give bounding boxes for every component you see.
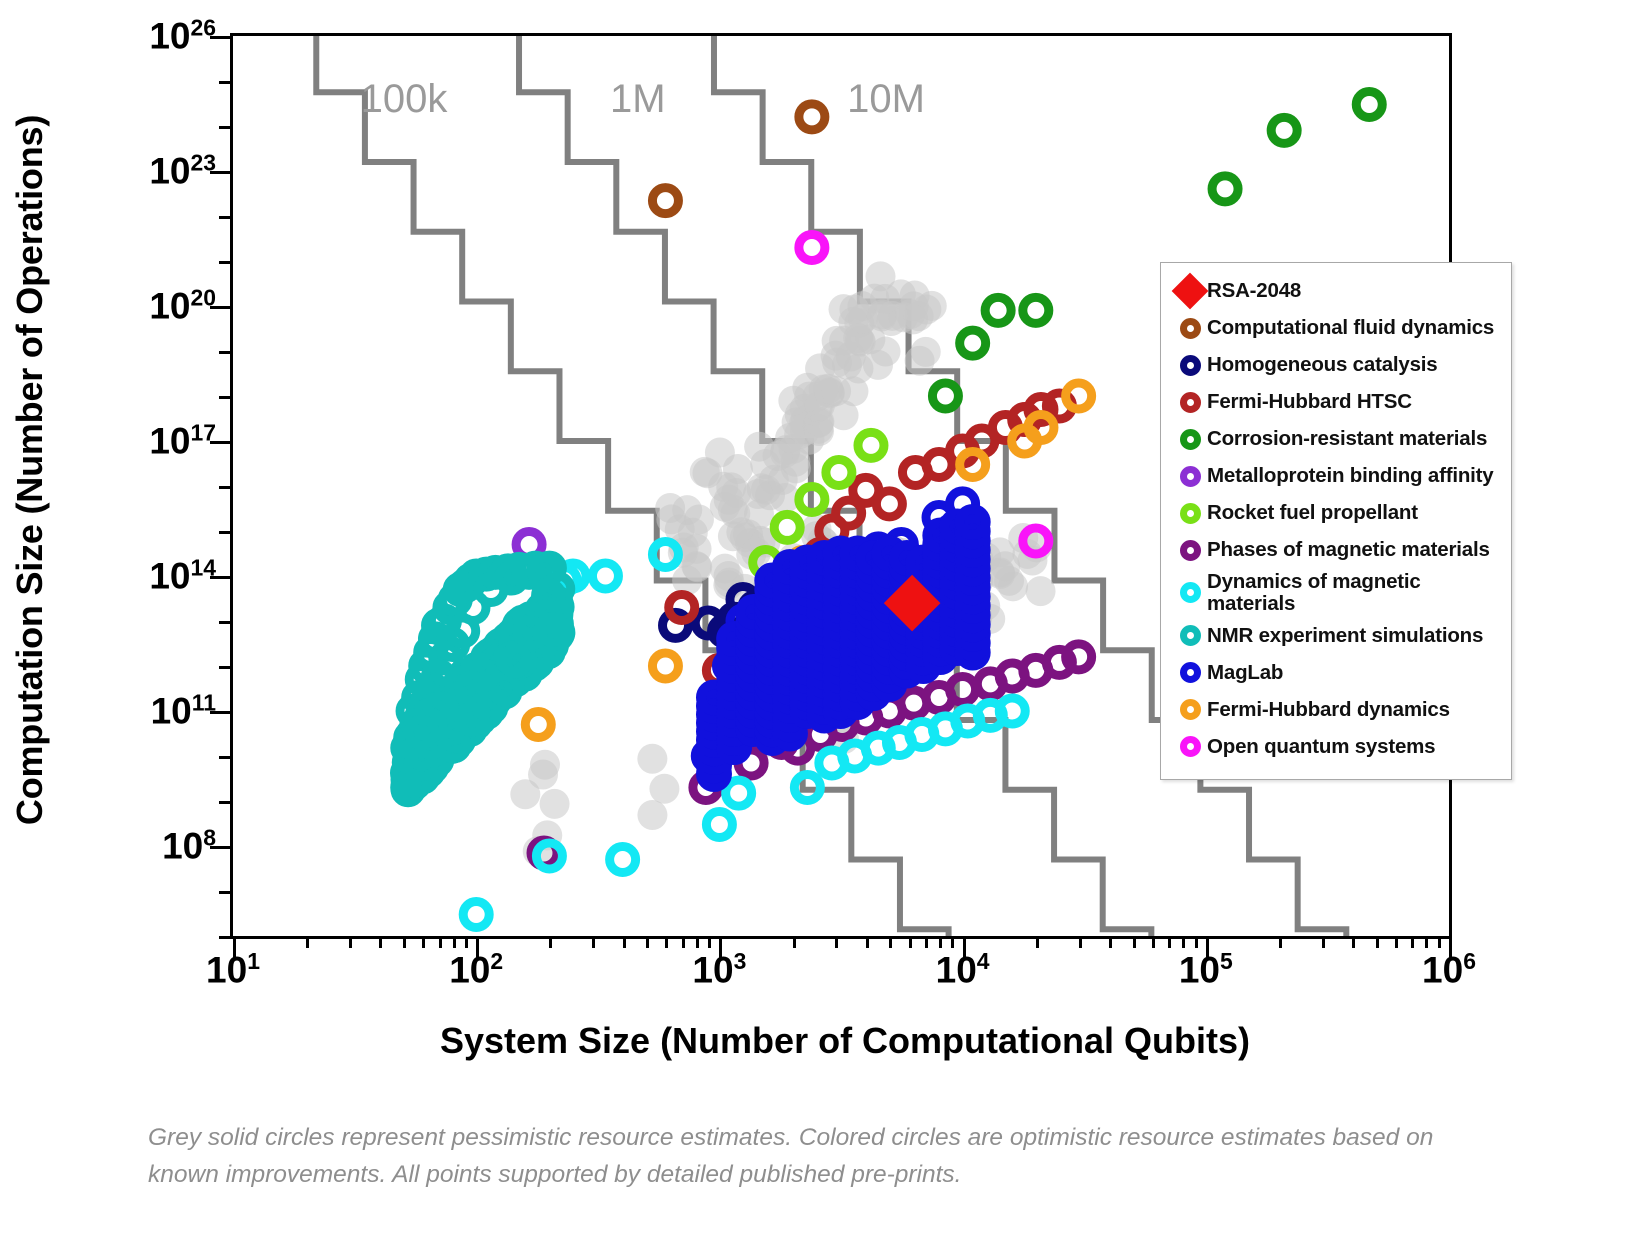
data-point-ring	[652, 188, 678, 214]
x-tick-minor	[1322, 936, 1325, 948]
x-tick-minor	[422, 936, 425, 948]
legend-item-rsa-2048[interactable]: RSA-2048	[1173, 275, 1501, 307]
x-tick-minor	[682, 936, 685, 948]
ring-marker-icon	[1173, 423, 1207, 455]
legend-item-homogeneous-catalysis[interactable]: Homogeneous catalysis	[1173, 349, 1501, 381]
grey-pessimistic-point	[743, 479, 773, 509]
x-tick-minor	[1133, 936, 1136, 948]
grey-pessimistic-point	[904, 301, 934, 331]
marker-shape	[1180, 736, 1201, 757]
marker-shape	[1180, 503, 1201, 524]
y-tick-minor	[219, 261, 230, 264]
x-tick-minor	[623, 936, 626, 948]
x-tick-minor	[453, 936, 456, 948]
legend-item-label: Metalloprotein binding affinity	[1207, 465, 1493, 487]
y-tick-minor	[219, 711, 230, 714]
data-point-ring	[1028, 414, 1054, 440]
legend: RSA-2048Computational fluid dynamicsHomo…	[1160, 262, 1512, 780]
grey-pessimistic-point	[911, 337, 941, 367]
data-point-ring	[1212, 176, 1238, 202]
grey-pessimistic-point	[540, 789, 570, 819]
x-tick-minor	[465, 936, 468, 948]
y-tick-label: 108	[162, 824, 216, 867]
data-point-ring	[799, 234, 825, 260]
y-axis-title-text: Computation Size (Number of Operations)	[9, 115, 51, 825]
x-tick-minor	[793, 936, 796, 948]
data-point-ring	[592, 563, 618, 589]
data-point-ring	[985, 297, 1011, 323]
x-tick-minor	[1352, 936, 1355, 948]
legend-item-fermi-hubbard-dynamics[interactable]: Fermi-Hubbard dynamics	[1173, 693, 1501, 725]
x-tick-mark	[719, 936, 722, 958]
grey-pessimistic-point	[637, 744, 667, 774]
y-tick-minor	[219, 576, 230, 579]
y-tick-label: 1017	[149, 419, 216, 462]
x-tick-minor	[1079, 936, 1082, 948]
legend-item-label: MagLab	[1207, 662, 1283, 684]
y-tick-minor	[219, 441, 230, 444]
x-tick-mark	[1206, 936, 1209, 958]
x-tick-minor	[696, 936, 699, 948]
data-point-ring	[726, 780, 752, 806]
y-tick-minor	[219, 36, 230, 39]
legend-item-label: Rocket fuel propellant	[1207, 502, 1418, 524]
x-tick-minor	[1376, 936, 1379, 948]
legend-item-corrosion-resistant-materials[interactable]: Corrosion-resistant materials	[1173, 423, 1501, 455]
data-point-ring	[826, 459, 852, 485]
contour-label: 1M	[610, 77, 666, 122]
marker-shape	[1180, 318, 1201, 339]
y-tick-minor	[219, 846, 230, 849]
x-tick-minor	[1168, 936, 1171, 948]
x-tick-minor	[592, 936, 595, 948]
data-point-ring	[1023, 297, 1049, 323]
data-point-ring	[652, 653, 678, 679]
y-tick-minor	[219, 801, 230, 804]
legend-item-dynamics-of-magnetic-materials[interactable]: Dynamics of magnetic materials	[1173, 571, 1501, 614]
y-tick-label: 1020	[149, 284, 216, 327]
y-tick-minor	[219, 81, 230, 84]
ring-marker-icon	[1173, 349, 1207, 381]
marker-shape	[1180, 429, 1201, 450]
contour-line	[519, 36, 1200, 936]
x-tick-minor	[1182, 936, 1185, 948]
ring-marker-icon	[1173, 386, 1207, 418]
grey-pessimistic-point	[714, 485, 744, 515]
grey-pessimistic-point	[637, 800, 667, 830]
data-point-ring	[932, 383, 958, 409]
marker-shape	[1180, 699, 1201, 720]
ring-marker-icon	[1173, 730, 1207, 762]
marker-shape	[1180, 392, 1201, 413]
marker-shape	[1180, 540, 1201, 561]
legend-item-phases-of-magnetic-materials[interactable]: Phases of magnetic materials	[1173, 534, 1501, 566]
x-tick-minor	[925, 936, 928, 948]
data-point-ring	[1066, 383, 1092, 409]
x-tick-minor	[1438, 936, 1441, 948]
legend-item-computational-fluid-dynamics[interactable]: Computational fluid dynamics	[1173, 312, 1501, 344]
legend-item-label: Computational fluid dynamics	[1207, 317, 1494, 339]
x-tick-minor	[1395, 936, 1398, 948]
contour-label: 100k	[361, 77, 448, 122]
data-point-ring	[1271, 117, 1297, 143]
data-point-ring	[1066, 644, 1092, 670]
y-tick-minor	[219, 216, 230, 219]
x-tick-minor	[439, 936, 442, 948]
legend-item-label: RSA-2048	[1207, 280, 1301, 302]
y-tick-minor	[219, 666, 230, 669]
x-tick-minor	[306, 936, 309, 948]
grey-pessimistic-point	[838, 376, 868, 406]
marker-shape	[1180, 625, 1201, 646]
y-tick-minor	[219, 891, 230, 894]
ring-marker-icon	[1173, 460, 1207, 492]
legend-item-open-quantum-systems[interactable]: Open quantum systems	[1173, 730, 1501, 762]
x-tick-minor	[379, 936, 382, 948]
legend-item-label: NMR experiment simulations	[1207, 625, 1483, 647]
x-tick-minor	[889, 936, 892, 948]
x-tick-minor	[1109, 936, 1112, 948]
x-tick-minor	[1036, 936, 1039, 948]
data-point-ring	[774, 514, 800, 540]
chart-page: Computation Size (Number of Operations) …	[0, 0, 1651, 1252]
ring-marker-icon	[1173, 497, 1207, 529]
data-point-ring	[706, 812, 732, 838]
x-tick-minor	[909, 936, 912, 948]
x-tick-minor	[1411, 936, 1414, 948]
y-tick-minor	[219, 756, 230, 759]
legend-item-label: Dynamics of magnetic materials	[1207, 571, 1501, 614]
ring-marker-icon	[1173, 619, 1207, 651]
grey-pessimistic-point	[649, 774, 679, 804]
x-tick-minor	[349, 936, 352, 948]
legend-item-label: Open quantum systems	[1207, 736, 1435, 758]
marker-shape	[1180, 582, 1201, 603]
legend-item-label: Phases of magnetic materials	[1207, 539, 1490, 561]
x-tick-minor	[951, 936, 954, 948]
x-tick-minor	[1195, 936, 1198, 948]
legend-item-label: Fermi-Hubbard HTSC	[1207, 391, 1412, 413]
y-tick-minor	[219, 171, 230, 174]
ring-marker-icon	[1173, 693, 1207, 725]
grey-pessimistic-point	[530, 750, 560, 780]
x-tick-minor	[646, 936, 649, 948]
legend-item-label: Corrosion-resistant materials	[1207, 428, 1487, 450]
data-point-ring	[652, 542, 678, 568]
diamond-marker-icon	[1173, 275, 1207, 307]
x-tick-mark	[963, 936, 966, 958]
marker-shape	[1180, 466, 1201, 487]
data-point-ring	[960, 330, 986, 356]
y-tick-minor	[219, 126, 230, 129]
marker-shape	[1172, 273, 1209, 310]
marker-shape	[1180, 355, 1201, 376]
grey-pessimistic-point	[870, 284, 900, 314]
data-point-ring	[999, 698, 1025, 724]
y-tick-label: 1023	[149, 149, 216, 192]
ring-marker-icon	[1173, 534, 1207, 566]
x-tick-minor	[866, 936, 869, 948]
x-tick-minor	[1279, 936, 1282, 948]
contour-label: 10M	[847, 77, 925, 122]
x-tick-mark	[1449, 936, 1452, 958]
legend-item-nmr-experiment-simulations[interactable]: NMR experiment simulations	[1173, 619, 1501, 651]
y-tick-label: 1026	[149, 14, 216, 57]
y-tick-label: 1011	[151, 689, 216, 732]
series-computational-fluid-dynamics	[652, 104, 824, 214]
data-point-ring	[463, 902, 489, 928]
data-point-ring	[858, 432, 884, 458]
x-tick-minor	[1425, 936, 1428, 948]
legend-item-maglab[interactable]: MagLab	[1173, 656, 1501, 688]
legend-item-metalloprotein-binding-affinity[interactable]: Metalloprotein binding affinity	[1173, 460, 1501, 492]
y-tick-minor	[219, 351, 230, 354]
ring-marker-icon	[1173, 577, 1207, 609]
y-tick-minor	[219, 396, 230, 399]
y-tick-minor	[219, 306, 230, 309]
ring-marker-icon	[1173, 312, 1207, 344]
figure-caption: Grey solid circles represent pessimistic…	[148, 1120, 1508, 1194]
x-tick-minor	[835, 936, 838, 948]
grey-pessimistic-point	[1026, 576, 1056, 606]
legend-item-label: Fermi-Hubbard dynamics	[1207, 699, 1450, 721]
x-tick-mark	[233, 936, 236, 958]
y-tick-minor	[219, 936, 230, 939]
data-point-ring	[525, 712, 551, 738]
ring-marker-icon	[1173, 656, 1207, 688]
x-tick-minor	[403, 936, 406, 948]
y-tick-minor	[219, 621, 230, 624]
y-axis-title: Computation Size (Number of Operations)	[0, 0, 60, 940]
data-point-ring	[1356, 92, 1382, 118]
legend-item-fermi-hubbard-htsc[interactable]: Fermi-Hubbard HTSC	[1173, 386, 1501, 418]
y-tick-minor	[219, 486, 230, 489]
x-tick-minor	[708, 936, 711, 948]
x-axis-title: System Size (Number of Computational Qub…	[230, 1020, 1460, 1062]
data-point-ring	[950, 677, 976, 703]
data-point-ring	[876, 491, 902, 517]
marker-shape	[1180, 662, 1201, 683]
data-point-ring	[669, 594, 695, 620]
x-tick-minor	[549, 936, 552, 948]
y-tick-minor	[219, 531, 230, 534]
legend-item-label: Homogeneous catalysis	[1207, 354, 1438, 376]
x-tick-minor	[939, 936, 942, 948]
x-tick-mark	[476, 936, 479, 958]
x-tick-minor	[665, 936, 668, 948]
legend-item-rocket-fuel-propellant[interactable]: Rocket fuel propellant	[1173, 497, 1501, 529]
x-tick-minor	[1152, 936, 1155, 948]
data-point-ring	[610, 847, 636, 873]
y-tick-label: 1014	[149, 554, 216, 597]
data-point-ring	[799, 104, 825, 130]
